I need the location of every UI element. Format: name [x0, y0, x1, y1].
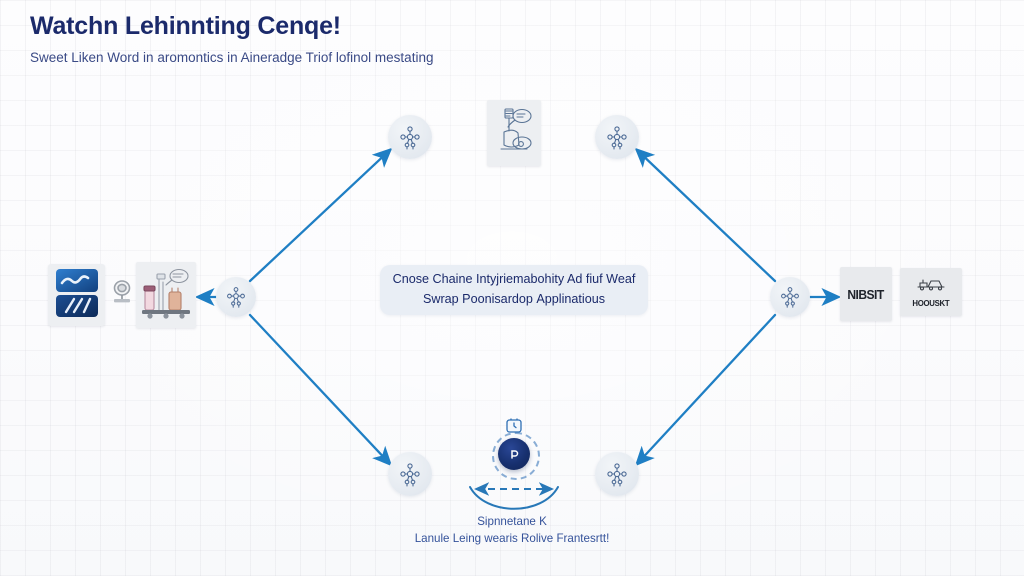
- central-seal-badge[interactable]: [490, 418, 538, 478]
- locomotive-icon: [914, 276, 948, 296]
- molecule-sketch-icon: [776, 283, 804, 311]
- link-midleft-to-bottomleft: [250, 315, 390, 464]
- bottom-caption: Sipnnetane K Lanule Leing wearis Rolive …: [302, 513, 722, 548]
- tile-logo-secondary[interactable]: HOOUSKT: [900, 268, 962, 316]
- node-bottom-left[interactable]: [388, 452, 432, 496]
- tile-logo-primary[interactable]: NIBSIT: [840, 267, 892, 321]
- bidirectional-span: [470, 487, 558, 509]
- center-caption-line-1: Cnose Chaine Intyjriemabohity Ad fiuf We…: [393, 270, 636, 290]
- node-top-right[interactable]: [595, 115, 639, 159]
- link-midright-to-topright: [637, 150, 775, 281]
- center-caption-panel: Cnose Chaine Intyjriemabohity Ad fiuf We…: [380, 265, 648, 315]
- badge-core: [498, 438, 530, 470]
- stacked-badges-icon: >: [53, 266, 101, 325]
- node-mid-right[interactable]: [770, 277, 810, 317]
- header: Watchn Lehinnting Cenqe! Sweet Liken Wor…: [30, 12, 730, 66]
- link-midleft-to-topleft: [250, 150, 390, 281]
- bottom-caption-line-2: Lanule Leing wearis Rolive Frantesrtt!: [302, 530, 722, 547]
- page-subtitle: Sweet Liken Word in aromontics in Ainera…: [30, 50, 730, 66]
- bottom-caption-line-1: Sipnnetane K: [302, 513, 722, 530]
- page-title: Watchn Lehinnting Cenqe!: [30, 12, 730, 41]
- molecule-sketch-icon: [602, 122, 632, 152]
- node-top-left[interactable]: [388, 115, 432, 159]
- molecule-sketch-icon: [395, 122, 425, 152]
- tile-connector: [108, 278, 136, 310]
- molecule-sketch-icon: [222, 283, 250, 311]
- center-caption-line-2: Swrap Poonisardoр Αpplinatious: [423, 290, 605, 310]
- molecule-sketch-icon: [395, 459, 425, 489]
- link-midright-to-bottomright: [637, 315, 775, 464]
- flask-sketch-icon: [491, 103, 537, 164]
- diagram-canvas: Watchn Lehinnting Cenqe! Sweet Liken Wor…: [0, 0, 1024, 576]
- logo-secondary-text: HOOUSKT: [913, 298, 950, 308]
- node-bottom-right[interactable]: [595, 452, 639, 496]
- tile-refinery[interactable]: [136, 262, 196, 328]
- node-mid-left[interactable]: [216, 277, 256, 317]
- ring-stand-icon: [109, 277, 135, 312]
- molecule-sketch-icon: [602, 459, 632, 489]
- logo-primary-text: NIBSIT: [848, 287, 884, 302]
- tile-top-center[interactable]: [487, 100, 541, 166]
- refinery-sketch-icon: [139, 264, 193, 327]
- tile-badges[interactable]: >: [48, 264, 105, 326]
